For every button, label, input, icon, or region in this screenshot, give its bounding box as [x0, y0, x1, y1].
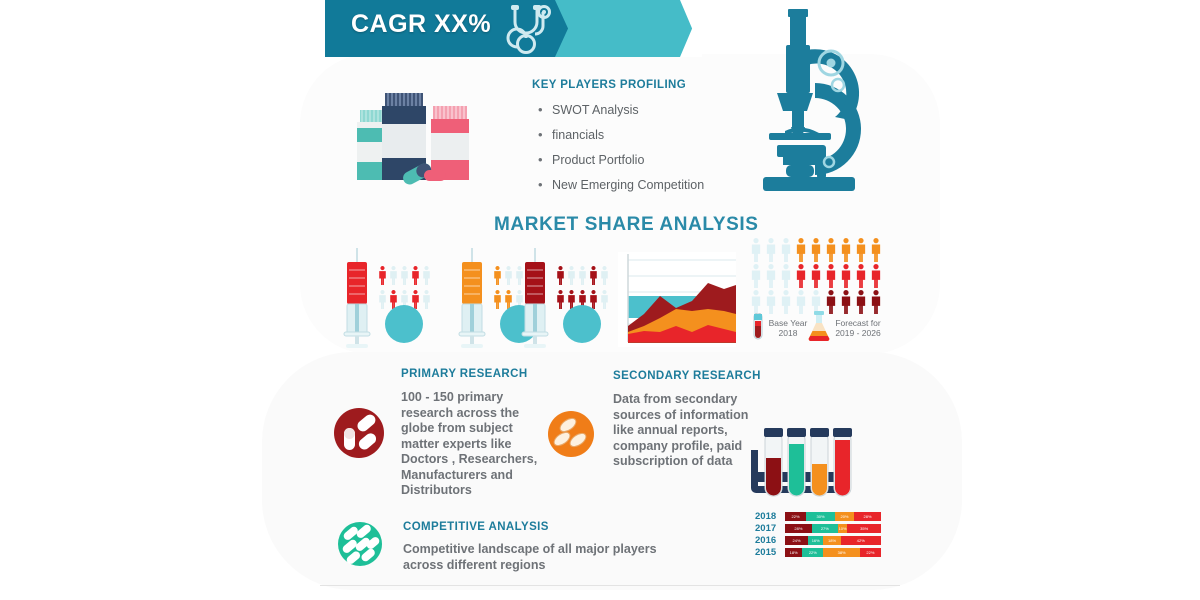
- syringe-icon-2: [518, 248, 552, 348]
- person-icon: [750, 290, 762, 314]
- person-icon: [765, 238, 777, 262]
- person-icon: [840, 238, 852, 262]
- key-players-heading: KEY PLAYERS PROFILING: [532, 79, 686, 91]
- bar-segment: 22%: [802, 548, 823, 557]
- person-icon: [825, 264, 837, 288]
- bar-segment: 30%: [806, 512, 835, 521]
- person-icon: [493, 266, 502, 285]
- syringe-icon-0: [340, 248, 374, 348]
- pictogram-row-1: [750, 264, 885, 293]
- person-icon: [400, 266, 409, 285]
- cagr-label: CAGR XX%: [351, 10, 491, 39]
- person-icon: [795, 264, 807, 288]
- bar-segment: 22%: [860, 548, 881, 557]
- person-icon: [578, 266, 587, 285]
- stacked-bar-2017: 28%27%10%35%: [785, 524, 881, 533]
- bar-segment: 18%: [785, 548, 802, 557]
- person-icon: [825, 238, 837, 262]
- cagr-banner: CAGR XX%: [325, 0, 700, 57]
- person-icon: [750, 238, 762, 262]
- pictogram-row-0: [750, 238, 885, 267]
- person-icon: [840, 264, 852, 288]
- banner-light-ribbon: [555, 0, 700, 57]
- person-icon: [750, 264, 762, 288]
- person-icon: [378, 290, 387, 309]
- market-share-heading: MARKET SHARE ANALYSIS: [494, 214, 759, 236]
- market-share-circle-0: [385, 305, 423, 343]
- key-players-bullet-list: SWOT AnalysisfinancialsProduct Portfolio…: [538, 98, 704, 198]
- key-players-bullet-3: New Emerging Competition: [538, 173, 704, 198]
- bar-segment: 10%: [838, 524, 848, 533]
- forecast-value: 2019 - 2026: [830, 328, 886, 338]
- person-icon: [780, 290, 792, 314]
- stacked-bar-2015: 18%22%38%22%: [785, 548, 881, 557]
- area-chart: [618, 252, 736, 347]
- person-icon: [765, 290, 777, 314]
- key-players-bullet-2: Product Portfolio: [538, 148, 704, 173]
- key-players-bullet-0: SWOT Analysis: [538, 98, 704, 123]
- year-label-2018: 2018: [755, 511, 776, 522]
- base-year-label: Base Year: [762, 318, 814, 328]
- person-icon: [589, 266, 598, 285]
- bar-segment: 28%: [785, 524, 812, 533]
- capsules-icon[interactable]: [337, 521, 383, 567]
- person-icon: [855, 290, 867, 314]
- primary-research-heading: PRIMARY RESEARCH: [401, 368, 528, 380]
- bar-segment: 35%: [847, 524, 881, 533]
- bar-segment: 27%: [812, 524, 838, 533]
- person-icon: [556, 290, 565, 309]
- person-icon: [600, 290, 609, 309]
- person-icon: [795, 290, 807, 314]
- bar-segment: 24%: [785, 536, 808, 545]
- base-year-value: 2018: [762, 328, 814, 338]
- person-icon: [422, 266, 431, 285]
- secondary-research-heading: SECONDARY RESEARCH: [613, 370, 761, 382]
- person-icon: [556, 266, 565, 285]
- stacked-bar-2016: 24%16%18%42%: [785, 536, 881, 545]
- bar-segment: 16%: [808, 536, 823, 545]
- person-icon: [493, 290, 502, 309]
- bar-segment: 38%: [823, 548, 859, 557]
- year-label-2015: 2015: [755, 547, 776, 558]
- year-label-2016: 2016: [755, 535, 776, 546]
- person-icon: [780, 238, 792, 262]
- bottom-divider: [320, 585, 900, 586]
- person-icon: [389, 266, 398, 285]
- bar-segment: 22%: [785, 512, 806, 521]
- forecast-label: Forecast for: [830, 318, 886, 328]
- test-tube-rack-icon: [745, 428, 857, 506]
- year-label-2017: 2017: [755, 523, 776, 534]
- stethoscope-icon: [503, 4, 565, 54]
- infographic-canvas: CAGR XX%: [0, 0, 1200, 600]
- person-icon: [870, 264, 882, 288]
- person-icon: [765, 264, 777, 288]
- person-icon: [378, 266, 387, 285]
- person-icon: [795, 238, 807, 262]
- primary-research-body: 100 - 150 primary research across the gl…: [401, 390, 549, 499]
- person-icon: [870, 238, 882, 262]
- bar-segment: 18%: [823, 536, 840, 545]
- tablet-pill-icon[interactable]: [547, 410, 595, 458]
- person-icon: [600, 266, 609, 285]
- bar-segment: 28%: [854, 512, 881, 521]
- person-icon: [870, 290, 882, 314]
- market-share-circle-2: [563, 305, 601, 343]
- person-icon: [855, 264, 867, 288]
- microscope-icon: [755, 5, 873, 195]
- syringe-icon-1: [455, 248, 489, 348]
- person-icon: [567, 266, 576, 285]
- secondary-research-body: Data from secondary sources of informati…: [613, 392, 755, 470]
- pill-bottles-icon: [340, 88, 490, 190]
- competitive-analysis-heading: COMPETITIVE ANALYSIS: [403, 521, 549, 533]
- bar-segment: 20%: [835, 512, 854, 521]
- person-icon: [422, 290, 431, 309]
- key-players-bullet-1: financials: [538, 123, 704, 148]
- person-icon: [780, 264, 792, 288]
- person-icon: [855, 238, 867, 262]
- person-icon: [840, 290, 852, 314]
- pill-capsule-icon[interactable]: [333, 407, 385, 459]
- stacked-bar-2018: 22%30%20%28%: [785, 512, 881, 521]
- person-icon: [504, 266, 513, 285]
- bar-segment: 42%: [841, 536, 881, 545]
- person-icon: [810, 238, 822, 262]
- flask-icon: [808, 311, 830, 341]
- competitive-analysis-body: Competitive landscape of all major playe…: [403, 542, 663, 573]
- person-icon: [411, 266, 420, 285]
- person-icon: [810, 264, 822, 288]
